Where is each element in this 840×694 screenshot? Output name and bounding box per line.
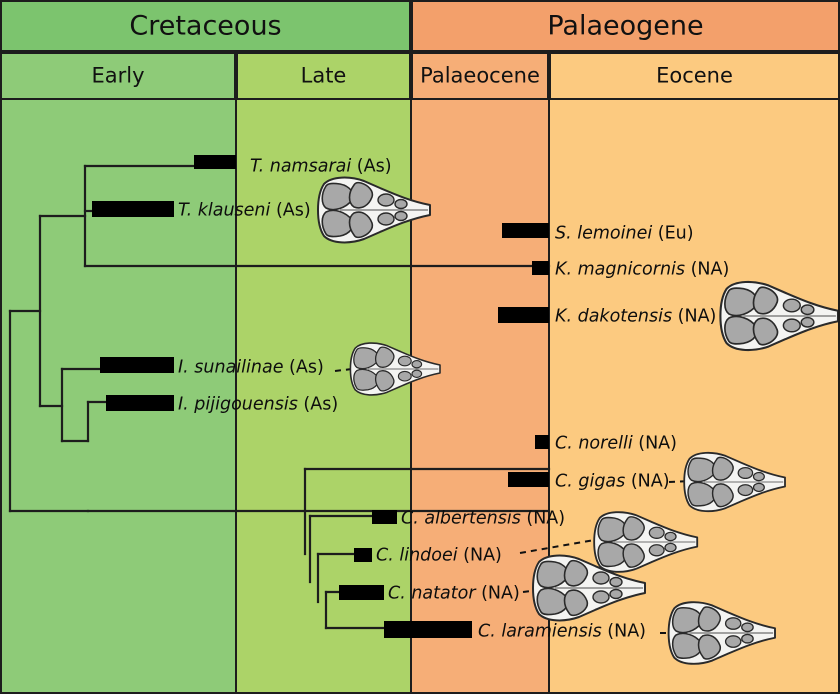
fossil-k-dakotensis-icon bbox=[720, 282, 838, 350]
fossil-ossicle bbox=[754, 483, 765, 491]
fossil-leader-line bbox=[335, 369, 352, 371]
fossil-ossicle bbox=[801, 318, 814, 327]
fossil-leader-line bbox=[520, 539, 600, 553]
fossil-illustrations-layer bbox=[0, 0, 840, 694]
fossil-ossicle bbox=[610, 590, 622, 599]
fossil-ossicle bbox=[398, 356, 411, 366]
fossil-ossicle bbox=[801, 305, 814, 314]
fossil-ossicle bbox=[738, 468, 752, 479]
fossil-ossicle bbox=[726, 636, 741, 647]
fossil-c-albertensis-icon bbox=[594, 512, 697, 572]
fossil-ossicle bbox=[378, 194, 394, 206]
fossil-ossicle bbox=[665, 543, 676, 551]
fossil-ossicle bbox=[395, 212, 407, 221]
fossil-ossicle bbox=[742, 634, 753, 643]
fossil-ossicle bbox=[738, 485, 752, 496]
fossil-t-klauseni-icon bbox=[318, 178, 430, 243]
fossil-ossicle bbox=[593, 591, 609, 603]
fossil-i-sunailinae-icon bbox=[350, 343, 440, 395]
fossil-c-gigas-icon bbox=[684, 453, 785, 511]
phylogeny-figure: CretaceousPalaeogeneEarlyLatePalaeoceneE… bbox=[0, 0, 840, 694]
fossil-ossicle bbox=[726, 618, 741, 629]
fossil-ossicle bbox=[593, 572, 609, 584]
fossil-ossicle bbox=[754, 473, 765, 481]
fossil-ossicle bbox=[783, 299, 800, 312]
fossil-c-laramiensis-icon bbox=[669, 602, 775, 664]
fossil-ossicle bbox=[649, 545, 664, 556]
fossil-ossicle bbox=[398, 371, 411, 381]
fossil-ossicle bbox=[395, 200, 407, 209]
fossil-ossicle bbox=[742, 623, 753, 632]
fossil-ossicle bbox=[610, 578, 622, 587]
fossil-ossicle bbox=[649, 527, 664, 538]
fossil-ossicle bbox=[412, 361, 422, 368]
fossil-ossicle bbox=[783, 319, 800, 332]
fossil-ossicle bbox=[378, 213, 394, 225]
fossil-ossicle bbox=[665, 532, 676, 540]
fossil-ossicle bbox=[412, 370, 422, 377]
